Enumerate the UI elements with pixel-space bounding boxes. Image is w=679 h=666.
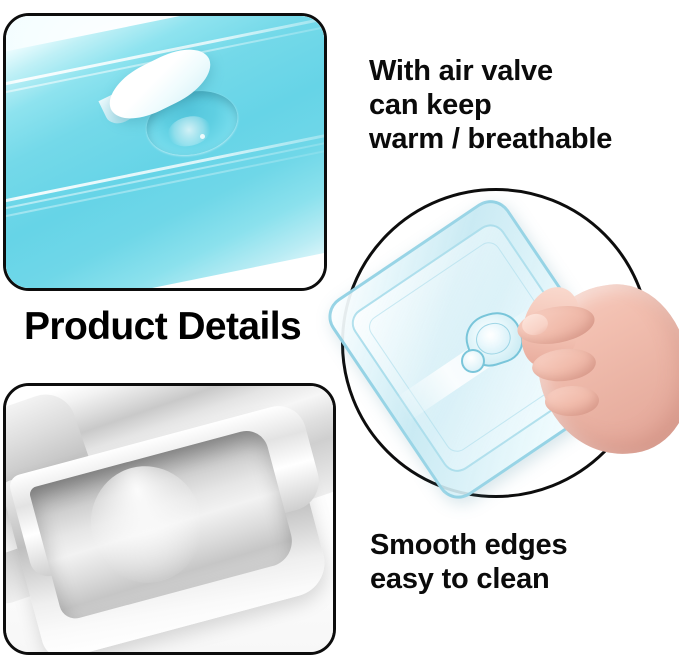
held-lid-air-valve-tab (461, 349, 485, 373)
pan-photo (6, 386, 333, 652)
infographic-page: With air valve can keep warm / breathabl… (0, 0, 679, 666)
lid-photo (6, 16, 324, 288)
panel-hand-holding-lid (341, 188, 651, 498)
panel-stainless-pan (3, 383, 336, 655)
callout-air-valve: With air valve can keep warm / breathabl… (369, 55, 612, 157)
callout-smooth-edges: Smooth edges easy to clean (370, 529, 567, 597)
panel-lid-air-valve (3, 13, 327, 291)
hand-lid-photo (344, 191, 648, 495)
page-title: Product Details (24, 305, 301, 349)
